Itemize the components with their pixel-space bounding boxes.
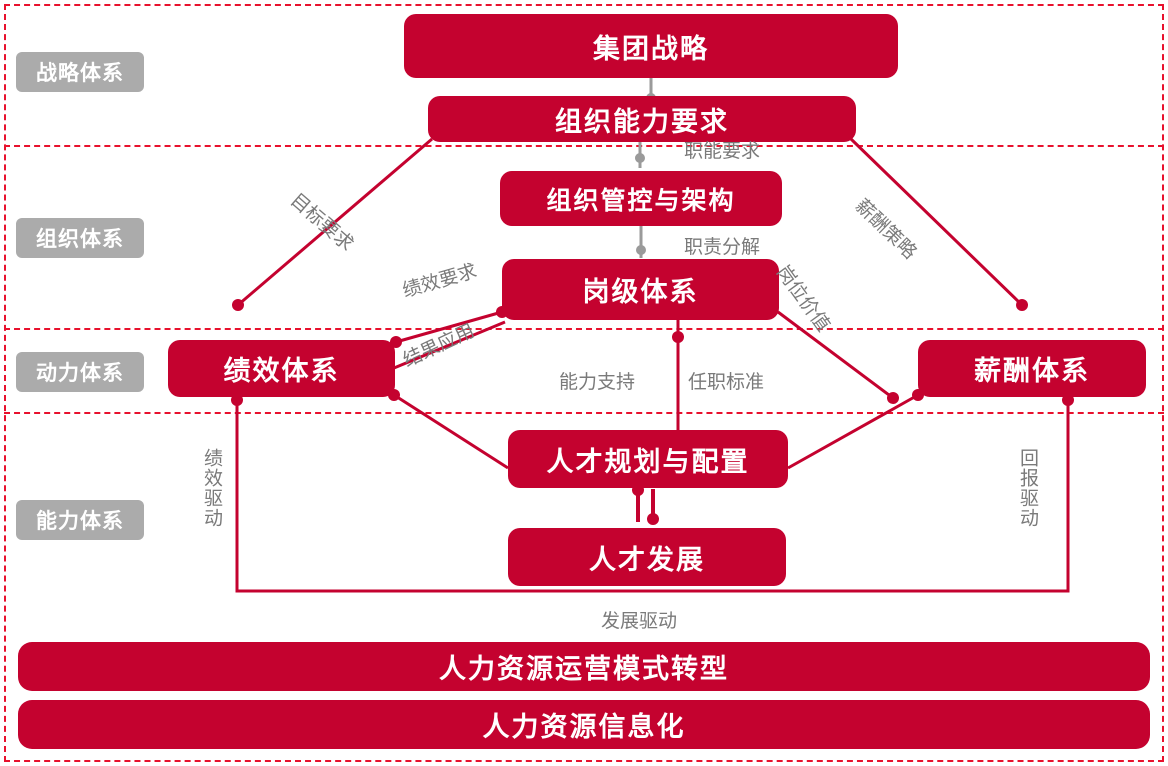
node-label: 组织管控与架构	[546, 181, 735, 217]
node-talent-development[interactable]: 人才发展	[508, 528, 786, 586]
node-hr-informatization[interactable]: 人力资源信息化	[18, 700, 1150, 749]
node-label: 人力资源运营模式转型	[439, 647, 729, 686]
edge-label-return-driven: 回报驱动	[1014, 448, 1041, 528]
node-performance-system[interactable]: 绩效体系	[168, 340, 395, 397]
node-talent-planning-allocation[interactable]: 人才规划与配置	[508, 430, 788, 488]
edge-label-capability-support: 能力支持	[559, 367, 635, 394]
edge-label-text: 回报驱动	[1017, 448, 1038, 528]
node-hr-operating-model-transformation[interactable]: 人力资源运营模式转型	[18, 642, 1150, 691]
edge-label-development-driven: 发展驱动	[601, 606, 677, 633]
node-label: 人力资源信息化	[483, 705, 686, 744]
edge-label-text: 绩效驱动	[201, 448, 222, 528]
node-label: 岗级体系	[583, 270, 699, 309]
node-label: 薪酬体系	[974, 349, 1090, 388]
edge-label-text: 能力支持	[559, 372, 635, 393]
node-org-capability-requirement[interactable]: 组织能力要求	[428, 96, 856, 142]
node-job-grade-system[interactable]: 岗级体系	[502, 259, 779, 320]
edge-label-qualification-standard: 任职标准	[688, 367, 764, 394]
node-label: 人才规划与配置	[547, 440, 750, 479]
node-compensation-system[interactable]: 薪酬体系	[918, 340, 1146, 397]
node-group-strategy[interactable]: 集团战略	[404, 14, 898, 78]
node-label: 人才发展	[589, 538, 705, 577]
edge-label-text: 职能要求	[684, 141, 760, 162]
edge-label-functional-requirement: 职能要求	[684, 136, 760, 163]
node-label: 组织能力要求	[555, 100, 729, 139]
node-org-control-structure[interactable]: 组织管控与架构	[500, 171, 782, 226]
edge-label-text: 任职标准	[688, 372, 764, 393]
edge-label-text: 职责分解	[684, 237, 760, 258]
node-label: 集团战略	[593, 27, 709, 66]
edge-label-text: 发展驱动	[601, 611, 677, 632]
node-label: 绩效体系	[224, 349, 340, 388]
edge-label-performance-driven: 绩效驱动	[198, 448, 225, 528]
edge-label-duty-decomposition: 职责分解	[684, 232, 760, 259]
hr-system-framework-diagram: 战略体系 组织体系 动力体系 能力体系 集团战略 组织能力要求 组织管控与架构 …	[0, 0, 1168, 766]
